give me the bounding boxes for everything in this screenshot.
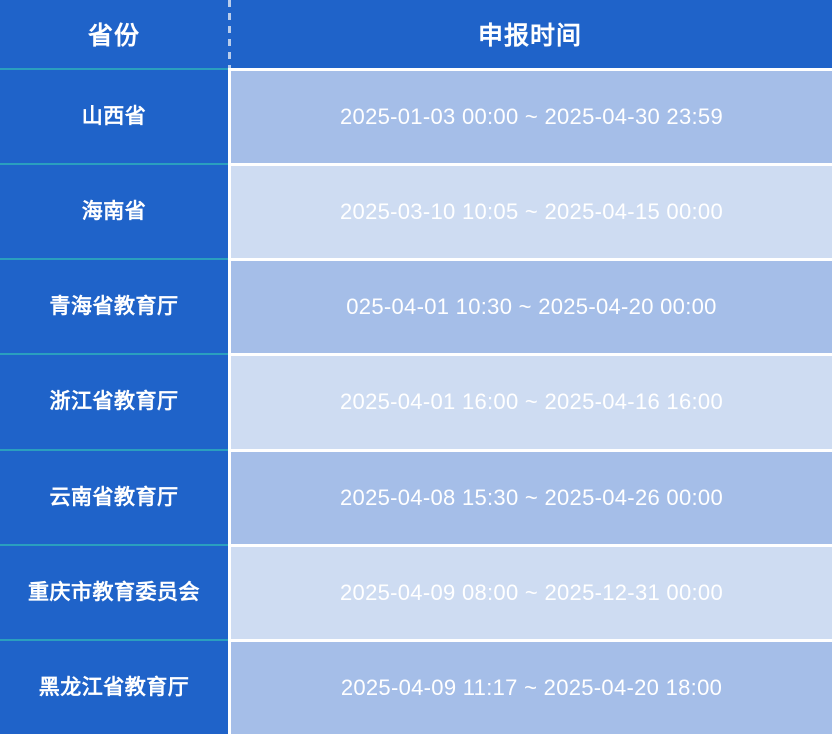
table-row: 山西省2025-01-03 00:00 ~ 2025-04-30 23:59 [0, 68, 832, 163]
table-row: 黑龙江省教育厅2025-04-09 11:17 ~ 2025-04-20 18:… [0, 639, 832, 734]
table-row: 浙江省教育厅2025-04-01 16:00 ~ 2025-04-16 16:0… [0, 353, 832, 448]
cell-province: 云南省教育厅 [0, 449, 228, 544]
cell-province: 海南省 [0, 163, 228, 258]
cell-province: 黑龙江省教育厅 [0, 639, 228, 734]
table-body: 山西省2025-01-03 00:00 ~ 2025-04-30 23:59海南… [0, 68, 832, 734]
declaration-schedule-table: 省份 申报时间 山西省2025-01-03 00:00 ~ 2025-04-30… [0, 0, 832, 734]
column-header-declaration-time: 申报时间 [228, 0, 832, 68]
column-header-province: 省份 [0, 0, 228, 68]
cell-declaration-time: 2025-04-01 16:00 ~ 2025-04-16 16:00 [228, 353, 832, 448]
cell-declaration-time: 2025-04-09 08:00 ~ 2025-12-31 00:00 [228, 544, 832, 639]
cell-province: 重庆市教育委员会 [0, 544, 228, 639]
table-row: 海南省2025-03-10 10:05 ~ 2025-04-15 00:00 [0, 163, 832, 258]
table-header-row: 省份 申报时间 [0, 0, 832, 68]
cell-declaration-time: 025-04-01 10:30 ~ 2025-04-20 00:00 [228, 258, 832, 353]
cell-province: 山西省 [0, 68, 228, 163]
table-row: 青海省教育厅025-04-01 10:30 ~ 2025-04-20 00:00 [0, 258, 832, 353]
cell-declaration-time: 2025-04-08 15:30 ~ 2025-04-26 00:00 [228, 449, 832, 544]
header-column-divider [228, 0, 231, 68]
cell-province: 青海省教育厅 [0, 258, 228, 353]
table-row: 重庆市教育委员会2025-04-09 08:00 ~ 2025-12-31 00… [0, 544, 832, 639]
cell-province: 浙江省教育厅 [0, 353, 228, 448]
cell-declaration-time: 2025-04-09 11:17 ~ 2025-04-20 18:00 [228, 639, 832, 734]
table-row: 云南省教育厅2025-04-08 15:30 ~ 2025-04-26 00:0… [0, 449, 832, 544]
cell-declaration-time: 2025-03-10 10:05 ~ 2025-04-15 00:00 [228, 163, 832, 258]
cell-declaration-time: 2025-01-03 00:00 ~ 2025-04-30 23:59 [228, 68, 832, 163]
